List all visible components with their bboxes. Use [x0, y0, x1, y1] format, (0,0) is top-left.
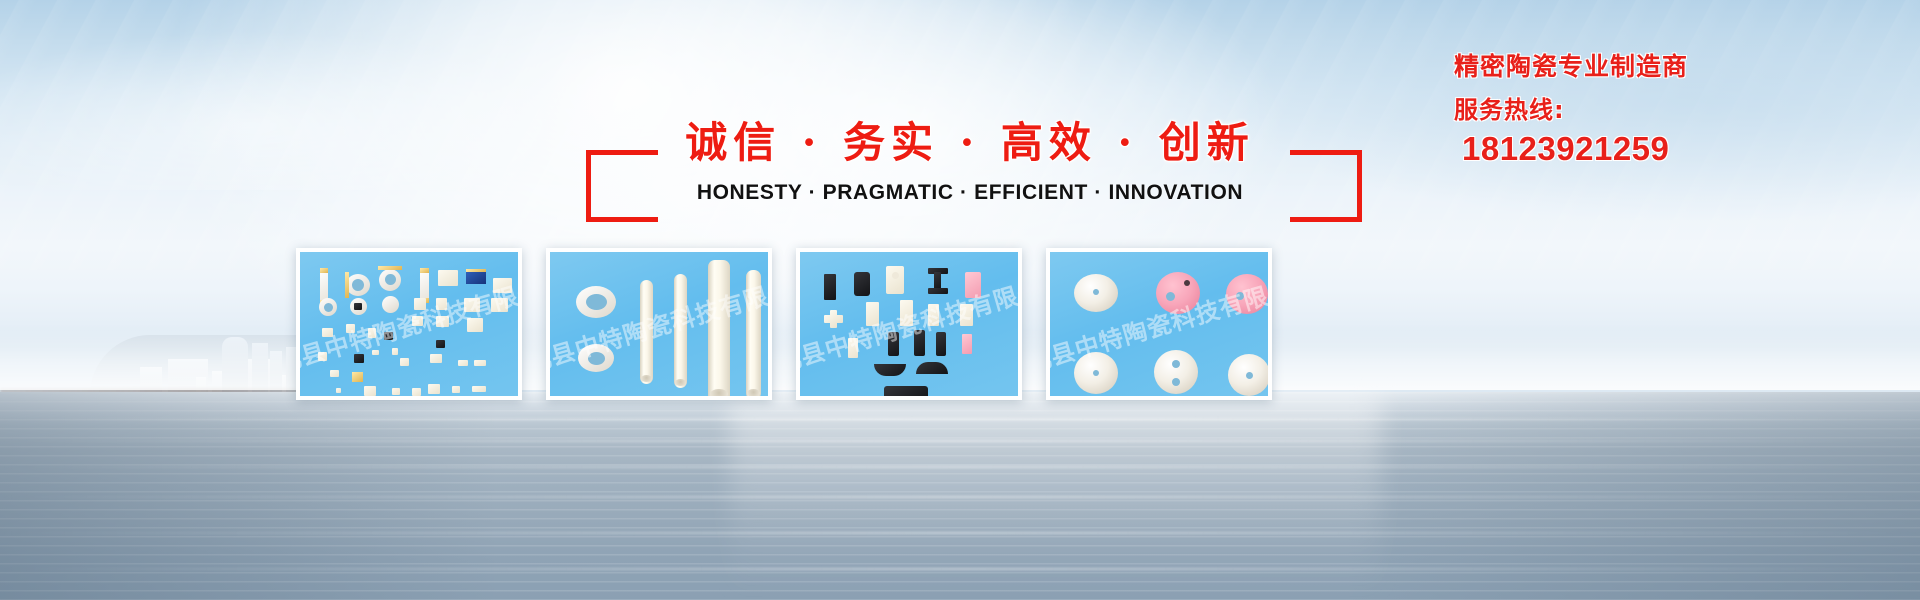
component	[472, 386, 486, 392]
component	[420, 268, 429, 273]
hole	[1172, 378, 1180, 386]
ceramic-part	[848, 338, 858, 358]
component	[464, 298, 480, 312]
ceramic-part	[914, 330, 925, 356]
component	[466, 272, 486, 284]
ceramic-part	[886, 266, 904, 294]
ceramic-disc	[1226, 274, 1268, 314]
ceramic-part	[936, 332, 946, 356]
ripple	[0, 440, 1920, 442]
component	[436, 316, 449, 327]
component	[392, 348, 398, 355]
slogan-english: HONESTY · PRAGMATIC · EFFICIENT · INNOVA…	[560, 182, 1380, 203]
component	[467, 318, 483, 332]
tower	[222, 337, 248, 395]
component	[368, 328, 376, 338]
hole	[1246, 372, 1253, 379]
component	[474, 360, 486, 366]
component	[336, 388, 341, 393]
tube-end	[710, 389, 728, 399]
ceramic-tube	[708, 260, 730, 400]
slogan-chinese: 诚信 · 务实 · 高效 · 创新	[560, 122, 1380, 164]
panel-ceramic-blocks[interactable]: 新化县中特陶瓷科技有限公司	[796, 248, 1022, 400]
product-panel-strip: 新化县中特陶瓷科技有限公司 新化县中特陶瓷科技有限公司	[296, 248, 1272, 400]
component	[430, 354, 442, 363]
hole	[1093, 370, 1099, 376]
component	[452, 386, 460, 393]
component	[414, 298, 426, 310]
component	[438, 270, 458, 286]
hole	[1093, 289, 1099, 295]
component	[382, 296, 399, 313]
ceramic-part	[888, 332, 899, 356]
panel-ceramic-tubes[interactable]: 新化县中特陶瓷科技有限公司	[546, 248, 772, 400]
component	[346, 324, 355, 333]
ceramic-disc	[1156, 272, 1200, 314]
hole	[1236, 292, 1244, 300]
panel-ceramic-discs[interactable]: 新化县中特陶瓷科技有限公司	[1046, 248, 1272, 400]
hole	[1172, 360, 1180, 368]
component	[352, 372, 363, 382]
ripple	[0, 568, 1920, 570]
ceramic-part	[824, 315, 843, 323]
company-tagline: 精密陶瓷专业制造商	[1454, 50, 1874, 84]
ripple	[0, 532, 1920, 534]
component	[384, 332, 393, 340]
component	[458, 360, 468, 366]
ceramic-part	[824, 274, 836, 300]
ripple	[0, 466, 1920, 468]
hotline-number[interactable]: 18123921259	[1462, 129, 1874, 169]
component	[392, 388, 400, 395]
component	[320, 268, 328, 273]
hero-banner: 诚信 · 务实 · 高效 · 创新 HONESTY · PRAGMATIC · …	[0, 0, 1920, 600]
component	[354, 303, 362, 310]
tube-end	[641, 375, 652, 382]
component	[378, 266, 402, 270]
slogan-block: 诚信 · 务实 · 高效 · 创新 HONESTY · PRAGMATIC · …	[560, 140, 1380, 240]
component	[400, 358, 409, 366]
ceramic-part	[916, 362, 948, 374]
hole	[586, 294, 607, 310]
component	[493, 278, 512, 293]
ceramic-part	[962, 334, 972, 354]
component	[318, 352, 327, 361]
ceramic-part	[965, 272, 981, 298]
component	[412, 316, 423, 326]
contact-block: 精密陶瓷专业制造商 服务热线: 18123921259	[1454, 50, 1874, 168]
component	[436, 298, 447, 310]
panel-smd-components[interactable]: 新化县中特陶瓷科技有限公司	[296, 248, 522, 400]
component	[354, 354, 364, 363]
cloud-left	[0, 30, 560, 190]
hole	[1184, 280, 1190, 286]
ceramic-part	[866, 302, 879, 326]
hole	[385, 274, 396, 285]
ripple	[0, 418, 1920, 420]
hole	[324, 303, 333, 312]
ceramic-part	[900, 300, 913, 326]
component	[345, 272, 349, 298]
ceramic-disc	[1154, 350, 1198, 394]
hole	[588, 352, 605, 365]
hole	[352, 279, 364, 291]
ripple	[0, 496, 1920, 498]
component	[330, 370, 339, 377]
ceramic-part	[884, 386, 928, 400]
panel-background	[550, 252, 768, 396]
component	[364, 386, 376, 396]
component	[491, 298, 508, 312]
tube-end	[747, 389, 760, 397]
ceramic-tube	[640, 280, 653, 384]
ceramic-part	[928, 288, 948, 294]
ceramic-part	[960, 304, 973, 326]
hole	[892, 272, 899, 279]
component	[466, 269, 486, 272]
ceramic-tube	[674, 274, 687, 388]
hotline-label: 服务热线:	[1454, 96, 1874, 125]
component	[372, 350, 379, 355]
ceramic-tube	[746, 270, 761, 400]
hole	[1166, 292, 1175, 301]
wet-ground	[0, 392, 1920, 600]
component	[322, 328, 333, 337]
component	[412, 388, 421, 396]
tube-end	[675, 379, 686, 386]
component	[436, 340, 445, 348]
component	[428, 384, 440, 394]
ceramic-part	[854, 272, 870, 296]
ceramic-part	[928, 304, 939, 326]
